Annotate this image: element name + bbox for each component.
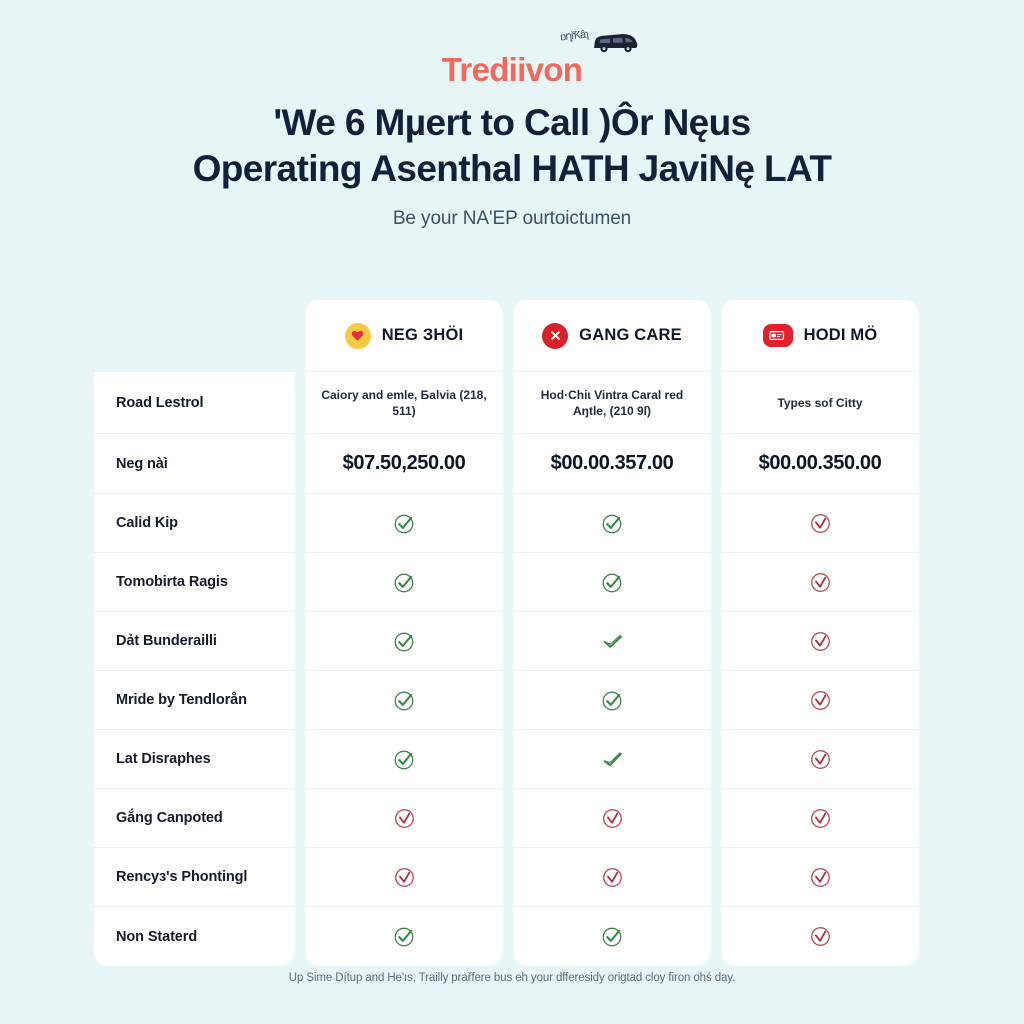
- check-circle-green-icon: [600, 688, 625, 713]
- plan-mark-cell: [513, 671, 711, 730]
- check-circle-green-icon: [392, 747, 417, 772]
- feature-row-label: Tomobirta Ragis: [94, 553, 295, 612]
- plan-description-cell: Caiory and emle, Ƃalvia (218, 511): [305, 372, 503, 434]
- plan-mark-cell: [305, 789, 503, 848]
- plan-header-label: GANG CARE: [579, 326, 682, 345]
- check-circle-red-icon: [808, 511, 833, 536]
- plan-mark-cell: [721, 907, 919, 966]
- plan-header-1[interactable]: NEG ЗHÖI: [305, 300, 503, 372]
- check-green-icon: [600, 629, 625, 654]
- plan-column-1[interactable]: NEG ЗHÖI Caiory and emle, Ƃalvia (218, 5…: [305, 300, 503, 966]
- plan-description-cell: Types sof Citty: [721, 372, 919, 434]
- check-circle-red-icon: [392, 865, 417, 890]
- plan-mark-cell: [721, 671, 919, 730]
- plan-price-cell: $00.00.357.00: [513, 434, 711, 494]
- feature-row-label: Lat Disraphes: [94, 730, 295, 789]
- plan-mark-cell: [721, 789, 919, 848]
- check-circle-green-icon: [600, 570, 625, 595]
- plan-mark-cell: [513, 789, 711, 848]
- plan-header-label: HODI MÖ: [804, 326, 878, 345]
- check-circle-red-icon: [600, 806, 625, 831]
- check-circle-red-icon: [808, 688, 833, 713]
- page-subtitle: Be your NA'EP ourtoictumen: [60, 208, 964, 230]
- brand-lockup: Trediivon ɒղřƘâɿ: [442, 53, 582, 86]
- plan-header-3[interactable]: HODI MÖ: [721, 300, 919, 372]
- plan-mark-cell: [513, 494, 711, 553]
- heart-badge-icon: [345, 323, 371, 349]
- check-circle-green-icon: [600, 511, 625, 536]
- plan-mark-cell: [721, 553, 919, 612]
- brand-header: Trediivon ɒղřƘâɿ: [0, 28, 1024, 86]
- plan-mark-cell: [513, 907, 711, 966]
- check-circle-green-icon: [600, 924, 625, 949]
- plan-mark-cell: [513, 553, 711, 612]
- comparison-table: Road Lestrol Neg nàì Calid Kip Tomobirta…: [94, 300, 930, 966]
- feature-row-label: Road Lestrol: [94, 372, 295, 434]
- check-green-icon: [600, 747, 625, 772]
- feature-row-label: Dảt Bunderailli: [94, 612, 295, 671]
- page-title-line-1: 'We 6 Mµert to Call )Ôr Nęus: [60, 100, 964, 146]
- feature-row-label: Gắng Canpoted: [94, 789, 295, 848]
- plan-mark-cell: [721, 848, 919, 907]
- plan-column-3[interactable]: HODI MÖ Types sof Citty $00.00.350.00: [721, 300, 919, 966]
- check-circle-red-icon: [808, 924, 833, 949]
- plan-mark-cell: [305, 848, 503, 907]
- check-circle-green-icon: [392, 688, 417, 713]
- check-circle-green-icon: [392, 629, 417, 654]
- plan-price-cell: $00.00.350.00: [721, 434, 919, 494]
- plan-mark-cell: [305, 907, 503, 966]
- feature-row-label: Non Staterd: [94, 907, 295, 966]
- plan-mark-cell: [721, 494, 919, 553]
- plan-mark-cell: [305, 671, 503, 730]
- page-title: 'We 6 Mµert to Call )Ôr Nęus Operating A…: [60, 100, 964, 192]
- plan-price-cell: $07.50,250.00: [305, 434, 503, 494]
- plan-header-label: NEG ЗHÖI: [382, 326, 464, 345]
- battery-card-icon: [763, 324, 793, 347]
- plan-mark-cell: [513, 730, 711, 789]
- plan-mark-cell: [513, 848, 711, 907]
- check-circle-red-icon: [808, 570, 833, 595]
- plan-mark-cell: [305, 494, 503, 553]
- check-circle-red-icon: [808, 747, 833, 772]
- plan-mark-cell: [513, 612, 711, 671]
- van-icon: [590, 31, 640, 55]
- feature-row-label: Calid Kip: [94, 494, 295, 553]
- plan-header-2[interactable]: GANG CARE: [513, 300, 711, 372]
- brand-wordmark: Trediivon: [442, 53, 582, 86]
- feature-column: Road Lestrol Neg nàì Calid Kip Tomobirta…: [94, 300, 295, 966]
- close-circle-icon: [542, 323, 568, 349]
- brand-scribble-mark: ɒղřƘâɿ: [560, 28, 589, 44]
- feature-row-label: Rencyɜ's Phontingl: [94, 848, 295, 907]
- check-circle-green-icon: [392, 924, 417, 949]
- plan-column-2[interactable]: GANG CARE Hod·Chiɩ Vintra Caral red Aŋtl…: [513, 300, 711, 966]
- plan-mark-cell: [305, 612, 503, 671]
- plan-mark-cell: [305, 730, 503, 789]
- plan-description-cell: Hod·Chiɩ Vintra Caral red Aŋtle, (210 9ſ…: [513, 372, 711, 434]
- comparison-page: Trediivon ɒղřƘâɿ 'We 6 Mµert to Call )Ôr…: [0, 0, 1024, 1024]
- check-circle-red-icon: [808, 865, 833, 890]
- check-circle-red-icon: [808, 806, 833, 831]
- plan-mark-cell: [721, 730, 919, 789]
- check-circle-green-icon: [392, 511, 417, 536]
- check-circle-green-icon: [392, 570, 417, 595]
- plan-mark-cell: [721, 612, 919, 671]
- check-circle-red-icon: [600, 865, 625, 890]
- check-circle-red-icon: [808, 629, 833, 654]
- feature-row-label: Neg nàì: [94, 434, 295, 494]
- feature-column-header-spacer: [94, 300, 295, 372]
- plan-mark-cell: [305, 553, 503, 612]
- page-title-line-2: Operating Asenthal HATH JaviNę LAT: [60, 146, 964, 192]
- check-circle-red-icon: [392, 806, 417, 831]
- footer-note: Up Sime Dítup and He'ıs, Trailly prařfer…: [94, 972, 930, 984]
- feature-row-label: Mride by Tendlorån: [94, 671, 295, 730]
